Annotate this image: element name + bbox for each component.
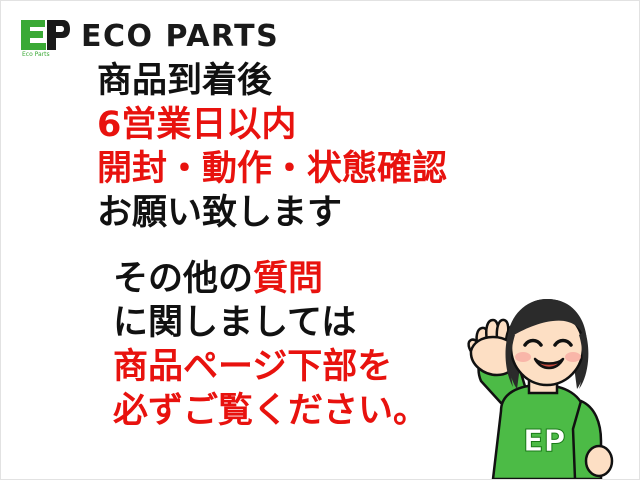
brand-name: ECO PARTS bbox=[81, 22, 279, 52]
eco-parts-logo-icon: Eco Parts bbox=[19, 17, 71, 57]
svg-text:Eco Parts: Eco Parts bbox=[22, 51, 50, 57]
notice-line-2: 6営業日以内 bbox=[97, 103, 617, 147]
notice-line-4: お願い致します bbox=[97, 191, 617, 235]
notice-line-1: 商品到着後 bbox=[97, 59, 617, 103]
notice-line-5-black: その他の bbox=[113, 259, 253, 299]
shirt-logo-text: EP bbox=[523, 424, 565, 459]
notice-line-5-red: 質問 bbox=[253, 259, 323, 299]
eco-parts-notice-banner: Eco Parts ECO PARTS 商品到着後 6営業日以内 開封・動作・状… bbox=[0, 0, 640, 480]
brand-header: Eco Parts ECO PARTS bbox=[19, 15, 279, 59]
waving-woman-illustration: EP bbox=[423, 289, 633, 479]
notice-line-3: 開封・動作・状態確認 bbox=[97, 147, 617, 191]
notice-spacer bbox=[97, 235, 617, 257]
